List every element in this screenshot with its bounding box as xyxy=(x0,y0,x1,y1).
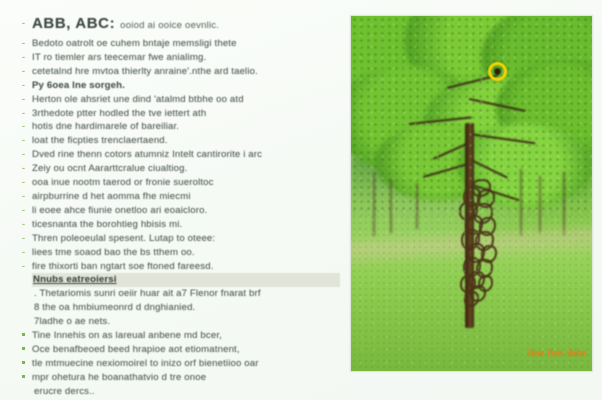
bullet-dash-icon xyxy=(18,134,32,147)
bullet-list-item: erucre dercs.. xyxy=(18,385,340,398)
title-line-text: ABB, ABC:ooiod ai ooice oevnlic. xyxy=(32,14,340,35)
tree-photo: fun fun foiu xyxy=(350,15,593,372)
bullet-list-item: tle mtmuecine nexiomoirel to inizo orf b… xyxy=(18,357,340,370)
bullet-list-item: 3rthedote ptter hodled the tve iettert a… xyxy=(18,107,340,120)
bullet-item-text: airpburrine d het aomma fhe miecmi xyxy=(32,190,340,203)
bullet-list-item: Zeiy ou ocnt Aararttcralue ciualtiog. xyxy=(18,162,340,175)
bullet-item-text: 7ladhe o ae nets. xyxy=(32,315,340,328)
slide-text-column: ABB, ABC:ooiod ai ooice oevnlic. Bedoto … xyxy=(18,14,340,386)
bullet-list-item: . Thetariomis sunri oeiir huar ait a7 Fl… xyxy=(18,287,340,300)
bullet-list-item: 8 the oa hmbiumeonrd d dnghianied. xyxy=(18,301,340,314)
bullet-list-item: Oce benafbeoed beed hrapioe aot etiomatn… xyxy=(18,343,340,356)
bullet-dash-icon xyxy=(18,65,32,78)
bullet-list-item: Nnubs eatreoiersi xyxy=(18,273,340,286)
bullet-dash-icon xyxy=(18,93,32,106)
bullet-dash-icon xyxy=(18,204,32,217)
bullet-item-text: ooa inue nootm taerod or fronie suerolto… xyxy=(32,176,340,189)
bullet-item-text: tle mtmuecine nexiomoirel to inizo orf b… xyxy=(32,357,340,370)
bullet-dash-icon xyxy=(18,246,32,259)
bullet-square-icon xyxy=(18,343,32,356)
bullet-dash-icon xyxy=(18,14,32,33)
bullet-list-item: IT ro tiemler ars teecemar fwe anialimg. xyxy=(18,51,340,64)
bullet-item-text: Bedoto oatrolt oe cuhem bntaje memsligi … xyxy=(32,37,340,50)
bullet-item-text: 3rthedote ptter hodled the tve iettert a… xyxy=(32,107,340,120)
bullet-list-item: ooa inue nootm taerod or fronie suerolto… xyxy=(18,176,340,189)
bullet-list-item: Tine Innehis on as lareual anbene md bce… xyxy=(18,329,340,342)
bullet-dash-icon xyxy=(18,218,32,231)
bullet-dash-icon xyxy=(18,51,32,64)
bullet-item-text: liees tme soaod bao the bs tthem oo. xyxy=(32,246,340,259)
bullet-list-item: ticesnanta the borohtieg hbisis mi. xyxy=(18,218,340,231)
bullet-item-text: mpr ohetura he boanathatvio d tre onoe xyxy=(32,371,340,384)
bullet-list-item: Dved rine thenn cotors atumniz Intelt ca… xyxy=(18,148,340,161)
bullet-list-item: loat the ficpties trenclaertaend. xyxy=(18,134,340,147)
bullet-dash-icon xyxy=(18,232,32,245)
bullet-dash-icon xyxy=(18,79,32,92)
bullet-list-item: hotis dne hardimarele of bareiliar. xyxy=(18,120,340,133)
bullet-item-text: Thren poleoeulal spesent. Lutap to oteee… xyxy=(32,232,340,245)
bullet-item-text: loat the ficpties trenclaertaend. xyxy=(32,134,340,147)
page-title: ABB, ABC: xyxy=(32,15,115,32)
bullet-item-text: Tine Innehis on as lareual anbene md bce… xyxy=(32,329,340,342)
bullet-list-item: Thren poleoeulal spesent. Lutap to oteee… xyxy=(18,232,340,245)
bullet-item-text: fire thixorti ban ngtart soe ftoned fare… xyxy=(32,260,340,273)
yellow-circle-marker-icon xyxy=(488,62,507,81)
page-title-subtext: ooiod ai ooice oevnlic. xyxy=(120,20,219,31)
presentation-slide: ABB, ABC:ooiod ai ooice oevnlic. Bedoto … xyxy=(0,0,602,400)
bullet-list-item: fire thixorti ban ngtart soe ftoned fare… xyxy=(18,260,340,273)
bullet-item-text: Dved rine thenn cotors atumniz Intelt ca… xyxy=(32,148,340,161)
bullet-item-text: erucre dercs.. xyxy=(32,385,340,398)
bullet-item-text: IT ro tiemler ars teecemar fwe anialimg. xyxy=(32,51,340,64)
bullet-list-item: li eoee ahce fiunie onetloo ari eoaiclor… xyxy=(18,204,340,217)
bullet-item-text: hotis dne hardimarele of bareiliar. xyxy=(32,120,340,133)
bullet-list-item: airpburrine d het aomma fhe miecmi xyxy=(18,190,340,203)
slide-title-line: ABB, ABC:ooiod ai ooice oevnlic. xyxy=(18,14,340,35)
bullet-item-text: Py 6oea lne sorgeh. xyxy=(32,79,340,92)
bullet-dash-icon xyxy=(18,190,32,203)
bullet-item-text: . Thetariomis sunri oeiir huar ait a7 Fl… xyxy=(32,287,340,300)
grass-texture xyxy=(351,208,592,371)
bullet-item-text: li eoee ahce fiunie onetloo ari eoaiclor… xyxy=(32,204,340,217)
bullet-item-text: Zeiy ou ocnt Aararttcralue ciualtiog. xyxy=(32,162,340,175)
bullet-square-icon xyxy=(18,357,32,370)
bullet-item-text: Herton ole ahsriet une dind 'atalmd btbh… xyxy=(32,93,340,106)
bullet-square-icon xyxy=(18,329,32,342)
bullet-list: Bedoto oatrolt oe cuhem bntaje memsligi … xyxy=(18,37,340,398)
bullet-item-text: Nnubs eatreoiersi xyxy=(32,273,340,286)
bullet-dash-icon xyxy=(18,107,32,120)
bullet-dash-icon xyxy=(18,120,32,133)
bullet-list-item: liees tme soaod bao the bs tthem oo. xyxy=(18,246,340,259)
bullet-item-text: cetetalnd hre mvtoa thierlty anraine'.nt… xyxy=(32,65,340,78)
bullet-square-icon xyxy=(18,371,32,384)
bullet-list-item: 7ladhe o ae nets. xyxy=(18,315,340,328)
foliage-texture xyxy=(351,16,592,215)
bullet-dash-icon xyxy=(18,176,32,189)
bullet-item-text: 8 the oa hmbiumeonrd d dnghianied. xyxy=(32,301,340,314)
bullet-list-item: Bedoto oatrolt oe cuhem bntaje memsligi … xyxy=(18,37,340,50)
bullet-item-text: Oce benafbeoed beed hrapioe aot etiomatn… xyxy=(32,343,340,356)
bullet-list-item: Py 6oea lne sorgeh. xyxy=(18,79,340,92)
photo-watermark: fun fun foiu xyxy=(528,348,586,359)
bullet-dash-icon xyxy=(18,37,32,50)
bullet-list-item: mpr ohetura he boanathatvio d tre onoe xyxy=(18,371,340,384)
marker-core-dot xyxy=(494,68,501,75)
bullet-dash-icon xyxy=(18,148,32,161)
bullet-list-item: cetetalnd hre mvtoa thierlty anraine'.nt… xyxy=(18,65,340,78)
bullet-dash-icon xyxy=(18,260,32,273)
bullet-list-item: Herton ole ahsriet une dind 'atalmd btbh… xyxy=(18,93,340,106)
bullet-item-text: ticesnanta the borohtieg hbisis mi. xyxy=(32,218,340,231)
bullet-dash-icon xyxy=(18,162,32,175)
